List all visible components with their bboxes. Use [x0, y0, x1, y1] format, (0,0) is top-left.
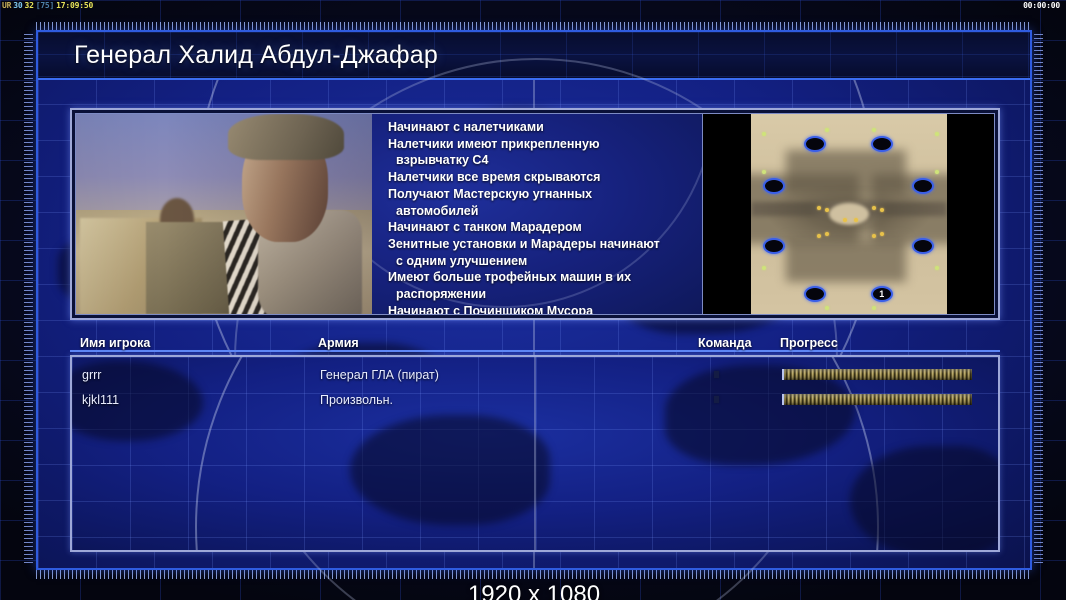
table-row[interactable]: grrrГенерал ГЛА (пират) [72, 362, 998, 387]
cell-player-name: kjkl111 [72, 393, 320, 407]
cell-team [700, 396, 782, 403]
map-preview[interactable]: 1 [702, 114, 994, 314]
general-description-list: Начинают с налетчикамиНалетчики имеют пр… [372, 114, 702, 314]
lobby-frame: Генерал Халид Абдул-Джафар [36, 30, 1032, 570]
map-supply-dock [872, 128, 876, 132]
map-oil-derrick [880, 208, 884, 212]
resolution-label: 1920 x 1080 [38, 581, 1030, 600]
map-oil-derrick [880, 232, 884, 236]
player-table-rows: grrrГенерал ГЛА (пират)kjkl111Произвольн… [72, 357, 998, 412]
map-start-position [912, 238, 934, 254]
map-landmass [850, 446, 998, 550]
hud-timer: 00:00:00 [1023, 1, 1060, 10]
hud-status-overlay: UR 30 32 [75] 17:09:50 [2, 1, 93, 10]
cell-progress [782, 369, 998, 380]
map-preview-image: 1 [751, 114, 947, 314]
player-table-header: Имя игрока Армия Команда Прогресс [70, 330, 1000, 352]
map-supply-dock [935, 170, 939, 174]
description-line: Имеют больше трофейных машин в их [388, 269, 694, 286]
map-oil-derrick [872, 234, 876, 238]
hud-value-3: [75] [36, 1, 54, 10]
description-line: Начинают с Починщиком Мусора [388, 303, 694, 314]
map-start-position [804, 136, 826, 152]
game-screen: UR 30 32 [75] 17:09:50 00:00:00 Генерал … [0, 0, 1066, 600]
cell-player-name: grrr [72, 368, 320, 382]
column-header-army: Армия [318, 336, 698, 350]
map-supply-dock [935, 132, 939, 136]
portrait-vignette [76, 114, 372, 314]
ruler-left [24, 34, 33, 566]
team-indicator-dot [714, 396, 719, 403]
column-header-team: Команда [698, 336, 780, 350]
description-line: Начинают с танком Марадером [388, 219, 694, 236]
ruler-right [1034, 34, 1043, 566]
description-line: Получают Мастерскую угнанных [388, 186, 694, 203]
description-line: Зенитные установки и Марадеры начинают [388, 236, 694, 253]
description-line: с одним улучшением [388, 253, 694, 270]
map-start-position [804, 286, 826, 302]
description-line: Начинают с налетчиками [388, 119, 694, 136]
map-supply-dock [762, 132, 766, 136]
cell-army: Произвольн. [320, 393, 700, 407]
hud-clock: 17:09:50 [56, 1, 93, 10]
description-line: распоряжении [388, 286, 694, 303]
ruler-bottom [36, 570, 1032, 579]
map-supply-dock [935, 266, 939, 270]
general-portrait-image [76, 114, 372, 314]
column-header-progress: Прогресс [780, 336, 1000, 350]
hud-tag: UR [2, 1, 11, 10]
map-landmass [350, 415, 550, 525]
general-info-panel: Начинают с налетчикамиНалетчики имеют пр… [70, 108, 1000, 320]
map-supply-dock [872, 306, 876, 310]
map-center-feature [829, 203, 869, 225]
description-line: Налетчики имеют прикрепленную [388, 136, 694, 153]
map-oil-derrick [825, 232, 829, 236]
map-oil-derrick [843, 218, 847, 222]
team-indicator-dot [714, 371, 719, 378]
progress-bar [782, 394, 972, 405]
map-supply-dock [825, 128, 829, 132]
hud-value-2: 32 [24, 1, 33, 10]
hud-value-1: 30 [13, 1, 22, 10]
cell-team [700, 371, 782, 378]
map-supply-dock [825, 306, 829, 310]
map-supply-dock [762, 266, 766, 270]
map-start-position [763, 178, 785, 194]
description-line: Налетчики все время скрываются [388, 169, 694, 186]
map-oil-derrick [872, 206, 876, 210]
title-bar: Генерал Халид Абдул-Джафар [38, 32, 1030, 80]
page-title: Генерал Халид Абдул-Джафар [74, 41, 438, 70]
description-line: автомобилей [388, 203, 694, 220]
player-table-panel: grrrГенерал ГЛА (пират)kjkl111Произвольн… [70, 355, 1000, 552]
table-row[interactable]: kjkl111Произвольн. [72, 387, 998, 412]
general-info-panel-inner: Начинают с налетчикамиНалетчики имеют пр… [75, 113, 995, 315]
map-oil-derrick [825, 208, 829, 212]
map-start-position [763, 238, 785, 254]
map-start-position [871, 136, 893, 152]
cell-progress [782, 394, 998, 405]
description-line: взрывчатку C4 [388, 152, 694, 169]
map-start-position [912, 178, 934, 194]
progress-bar [782, 369, 972, 380]
cell-army: Генерал ГЛА (пират) [320, 368, 700, 382]
map-start-position: 1 [871, 286, 893, 302]
column-header-player-name: Имя игрока [70, 336, 318, 350]
